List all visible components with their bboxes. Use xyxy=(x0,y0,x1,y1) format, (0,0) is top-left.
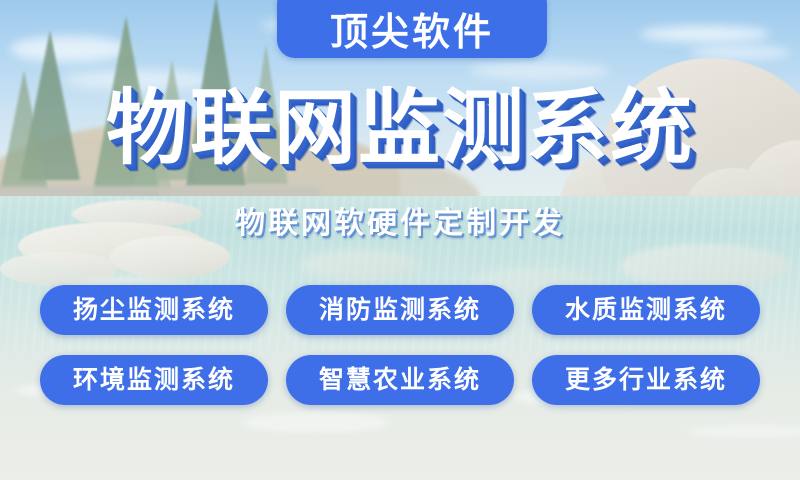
service-pill-label: 扬尘监测系统 xyxy=(73,298,235,323)
service-pill-grid: 扬尘监测系统 消防监测系统 水质监测系统 环境监测系统 智慧农业系统 更多行业系… xyxy=(40,285,760,405)
service-pill-label: 水质监测系统 xyxy=(565,298,727,323)
page-subtitle: 物联网软硬件定制开发 xyxy=(0,206,800,242)
promo-banner: 顶尖软件 物联网监测系统 物联网软硬件定制开发 扬尘监测系统 消防监测系统 水质… xyxy=(0,0,800,480)
service-pill-dust-monitoring[interactable]: 扬尘监测系统 xyxy=(40,285,268,335)
service-pill-fire-monitoring[interactable]: 消防监测系统 xyxy=(286,285,514,335)
brand-badge: 顶尖软件 xyxy=(277,0,547,58)
service-pill-label: 消防监测系统 xyxy=(319,298,481,323)
service-pill-environment-monitoring[interactable]: 环境监测系统 xyxy=(40,355,268,405)
service-pill-label: 环境监测系统 xyxy=(73,368,235,393)
page-title: 物联网监测系统 xyxy=(0,86,800,172)
service-pill-water-quality-monitoring[interactable]: 水质监测系统 xyxy=(532,285,760,335)
service-pill-smart-agriculture[interactable]: 智慧农业系统 xyxy=(286,355,514,405)
service-pill-label: 更多行业系统 xyxy=(565,368,727,393)
banner-content: 顶尖软件 物联网监测系统 物联网软硬件定制开发 扬尘监测系统 消防监测系统 水质… xyxy=(0,0,800,480)
service-pill-label: 智慧农业系统 xyxy=(319,368,481,393)
brand-badge-label: 顶尖软件 xyxy=(330,14,494,52)
service-pill-more-industries[interactable]: 更多行业系统 xyxy=(532,355,760,405)
